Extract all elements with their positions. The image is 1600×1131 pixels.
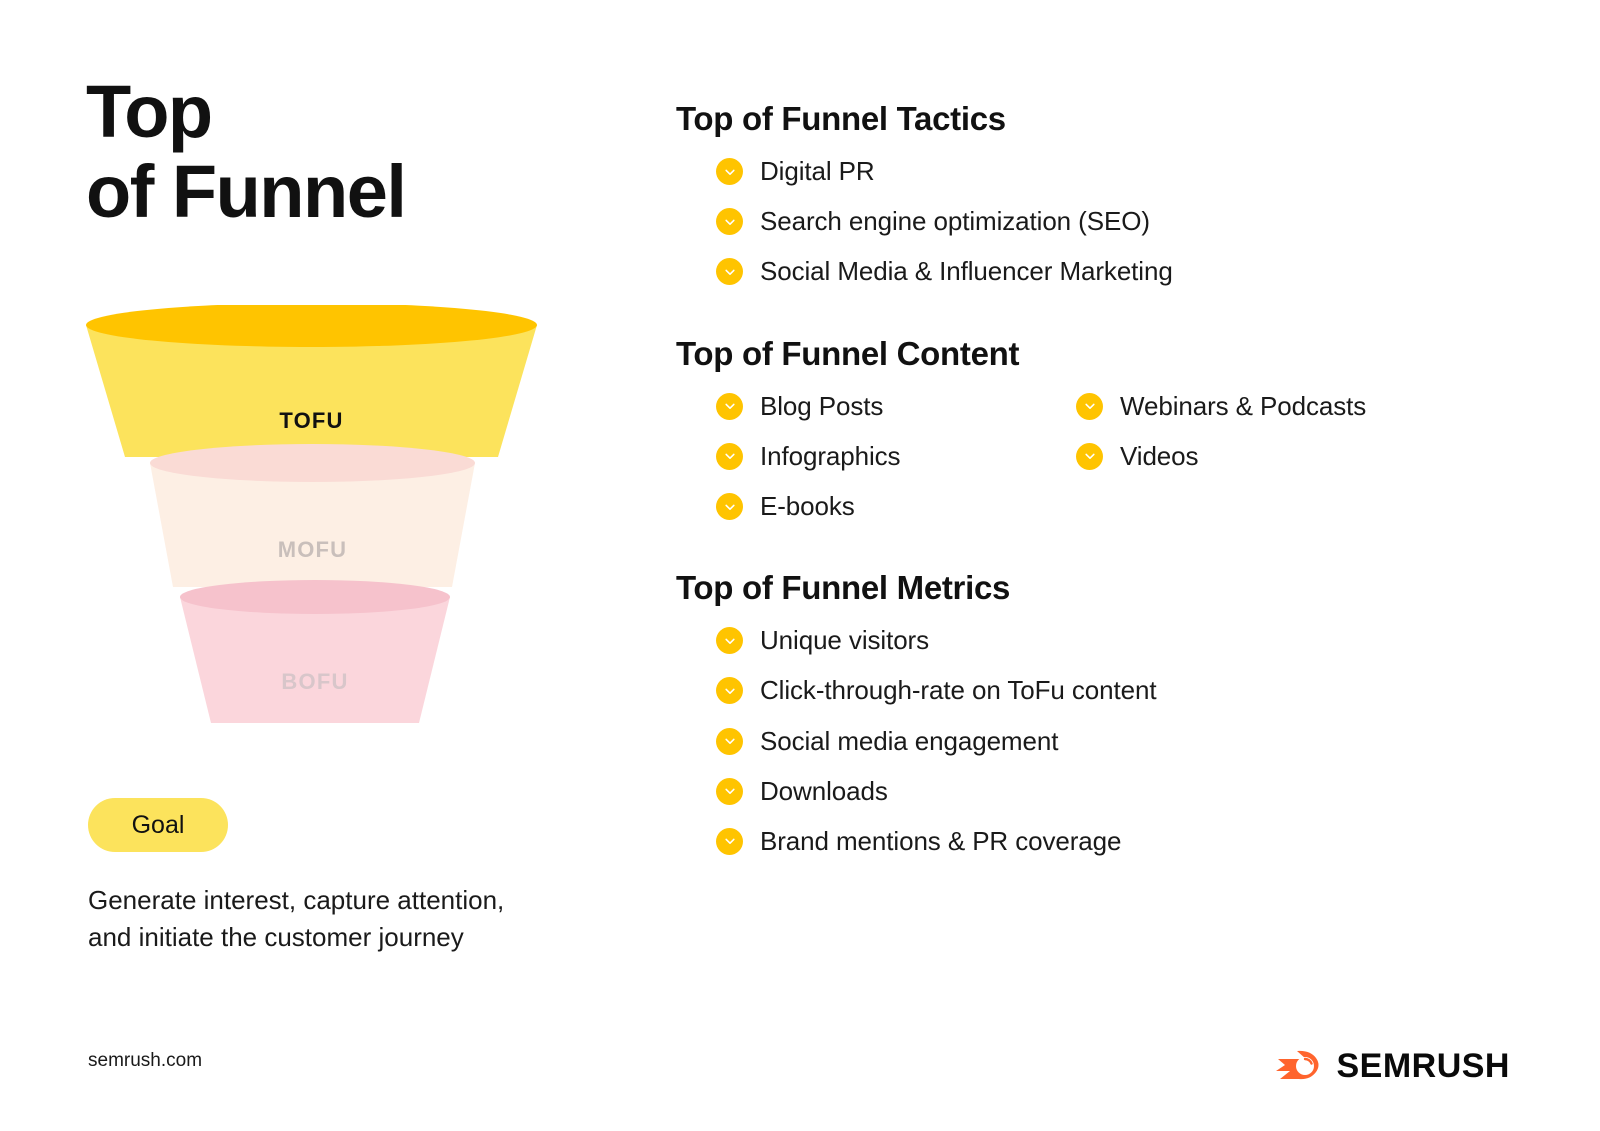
check-circle-icon — [716, 677, 743, 704]
list-item-label: Digital PR — [760, 156, 875, 187]
check-circle-icon — [716, 828, 743, 855]
spacer — [676, 307, 1536, 335]
list-item-label: Blog Posts — [760, 391, 883, 422]
check-circle-icon — [716, 393, 743, 420]
check-circle-icon — [716, 627, 743, 654]
list-item-label: Brand mentions & PR coverage — [760, 826, 1121, 857]
funnel-stage-mofu: MOFU — [150, 444, 475, 587]
list-item: Search engine optimization (SEO) — [716, 206, 1536, 237]
list-item: Social media engagement — [716, 726, 1536, 757]
section-tactics: Top of Funnel Tactics Digital PR Search … — [676, 100, 1536, 288]
section-title-tactics: Top of Funnel Tactics — [676, 100, 1536, 138]
semrush-logo: SEMRUSH — [1276, 1046, 1510, 1087]
check-circle-icon — [716, 258, 743, 285]
list-item-label: Webinars & Podcasts — [1120, 391, 1366, 422]
spacer — [676, 541, 1536, 569]
list-item: Brand mentions & PR coverage — [716, 826, 1536, 857]
page-title: Top of Funnel — [86, 72, 646, 232]
tactics-list: Digital PR Search engine optimization (S… — [676, 156, 1536, 288]
content-list: Blog Posts Infographics E-books — [676, 391, 1536, 542]
funnel-diagram: TOFU MOFU BOFU — [80, 305, 550, 735]
list-item: Webinars & Podcasts — [1076, 391, 1536, 422]
list-item-label: Unique visitors — [760, 625, 929, 656]
right-column: Top of Funnel Tactics Digital PR Search … — [676, 100, 1536, 876]
list-item-label: Infographics — [760, 441, 900, 472]
list-item: E-books — [716, 491, 1076, 522]
section-content: Top of Funnel Content Blog Posts Infogra… — [676, 335, 1536, 542]
left-column: Top of Funnel — [86, 72, 646, 232]
funnel-label-bofu: BOFU — [281, 669, 348, 694]
list-item-label: E-books — [760, 491, 855, 522]
list-item-label: Social media engagement — [760, 726, 1058, 757]
section-metrics: Top of Funnel Metrics Unique visitors Cl… — [676, 569, 1536, 857]
check-circle-icon — [716, 208, 743, 235]
list-item: Blog Posts — [716, 391, 1076, 422]
goal-description: Generate interest, capture attention, an… — [88, 882, 648, 956]
list-item-label: Downloads — [760, 776, 888, 807]
check-circle-icon — [716, 493, 743, 520]
list-item: Videos — [1076, 441, 1536, 472]
goal-badge: Goal — [88, 798, 228, 852]
infographic-canvas: Top of Funnel TOFU MOFU BOFU — [0, 0, 1600, 1131]
list-item: Digital PR — [716, 156, 1536, 187]
check-circle-icon — [1076, 443, 1103, 470]
check-circle-icon — [716, 778, 743, 805]
list-item: Unique visitors — [716, 625, 1536, 656]
list-item-label: Click-through-rate on ToFu content — [760, 675, 1156, 706]
funnel-cap-tofu — [86, 305, 537, 347]
funnel-stage-bofu: BOFU — [180, 580, 450, 723]
list-item-label: Social Media & Influencer Marketing — [760, 256, 1173, 287]
section-title-metrics: Top of Funnel Metrics — [676, 569, 1536, 607]
footer-url: semrush.com — [88, 1050, 202, 1072]
list-item-label: Videos — [1120, 441, 1198, 472]
funnel-body-bofu — [180, 597, 450, 723]
list-item: Downloads — [716, 776, 1536, 807]
funnel-label-mofu: MOFU — [278, 537, 348, 562]
semrush-wordmark: SEMRUSH — [1336, 1047, 1510, 1086]
funnel-cap-mofu — [150, 444, 475, 482]
funnel-label-tofu: TOFU — [279, 408, 343, 433]
semrush-comet-icon — [1276, 1046, 1322, 1087]
goal-badge-label: Goal — [132, 811, 185, 840]
funnel-stage-tofu: TOFU — [86, 305, 537, 457]
list-item-label: Search engine optimization (SEO) — [760, 206, 1150, 237]
check-circle-icon — [716, 443, 743, 470]
section-title-content: Top of Funnel Content — [676, 335, 1536, 373]
check-circle-icon — [1076, 393, 1103, 420]
metrics-list: Unique visitors Click-through-rate on To… — [676, 625, 1536, 857]
check-circle-icon — [716, 158, 743, 185]
check-circle-icon — [716, 728, 743, 755]
funnel-cap-bofu — [180, 580, 450, 614]
list-item: Click-through-rate on ToFu content — [716, 675, 1536, 706]
list-item: Social Media & Influencer Marketing — [716, 256, 1536, 287]
list-item: Infographics — [716, 441, 1076, 472]
